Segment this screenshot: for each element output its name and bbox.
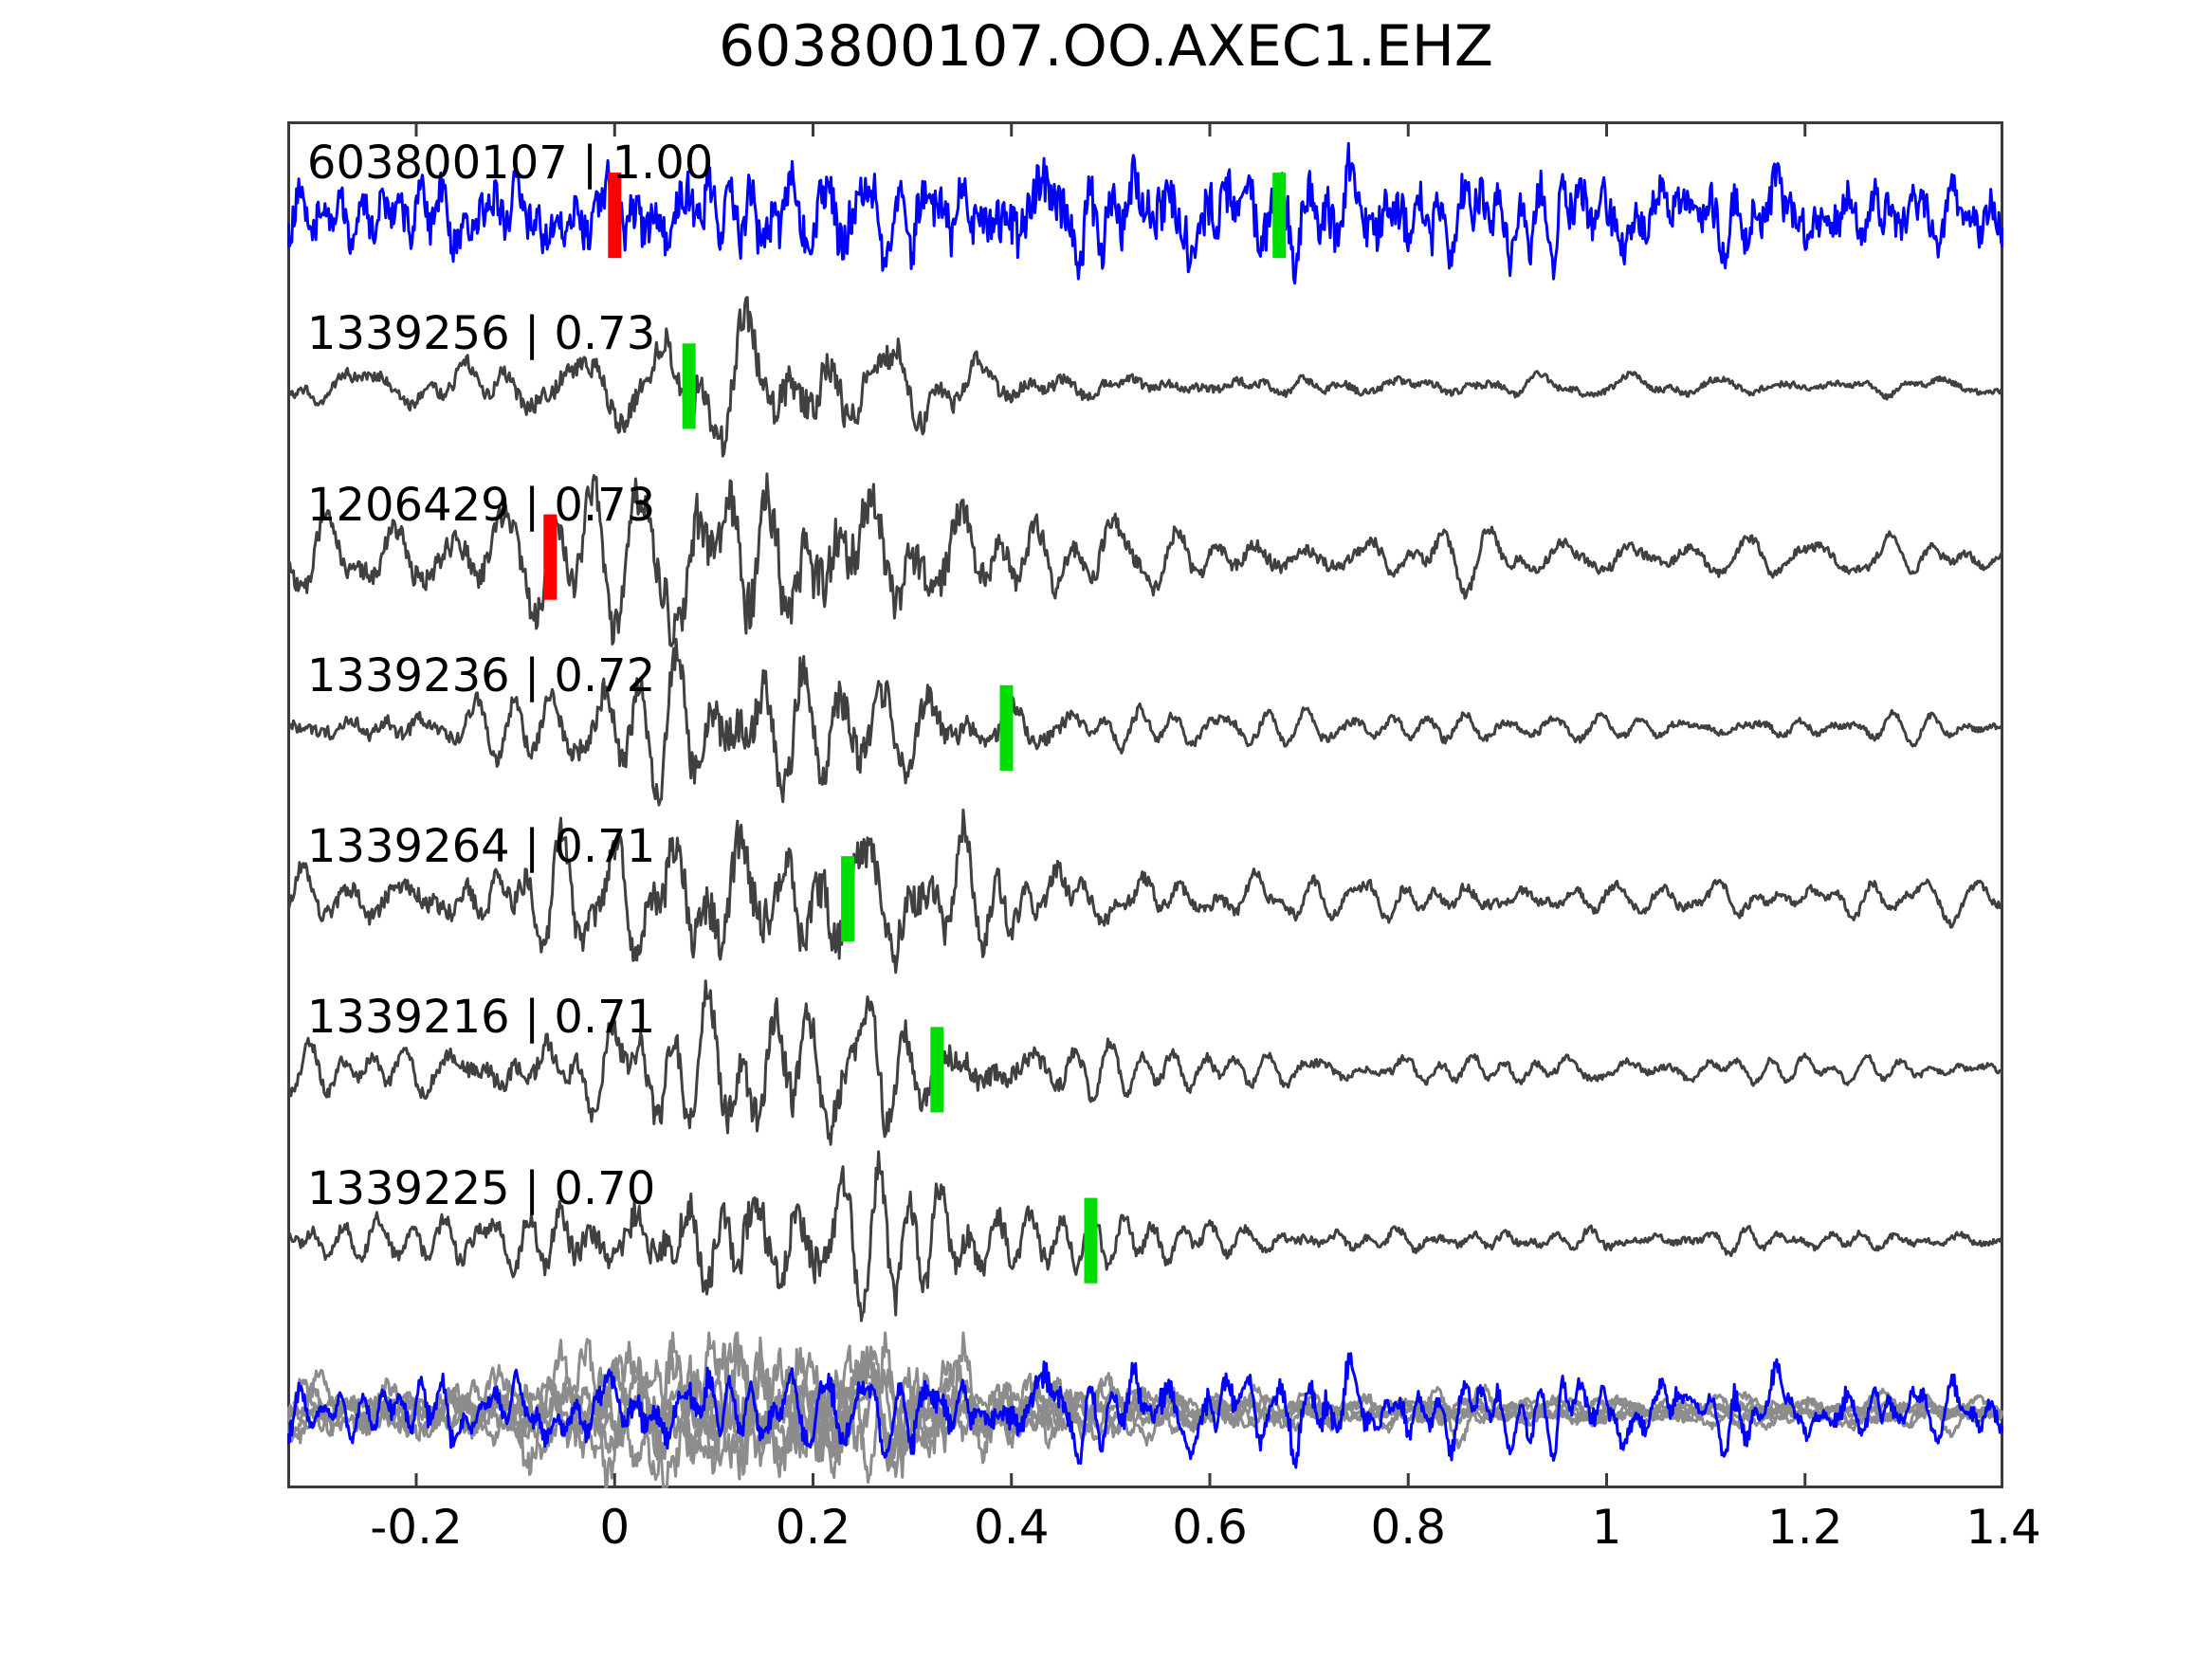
page-title: 603800107.OO.AXEC1.EHZ: [0, 13, 2212, 80]
s-pick-marker[interactable]: [1272, 173, 1286, 258]
trace-label-1206429: 1206429 | 0.73: [307, 479, 655, 532]
xtick-label: 0.8: [1370, 1500, 1446, 1555]
s-pick-marker[interactable]: [930, 1027, 943, 1112]
s-pick-marker[interactable]: [1085, 1198, 1098, 1284]
s-pick-marker[interactable]: [1000, 685, 1014, 771]
trace-label-1339264: 1339264 | 0.71: [307, 820, 655, 873]
trace-label-1339216: 1339216 | 0.71: [307, 991, 655, 1044]
seismogram-figure: 603800107.OO.AXEC1.EHZ 603800107 | 1.001…: [0, 0, 2212, 1659]
trace-label-1339236: 1339236 | 0.72: [307, 649, 655, 702]
s-pick-marker[interactable]: [841, 856, 854, 941]
trace-label-603800107: 603800107 | 1.00: [307, 137, 713, 190]
xtick-label: 1: [1592, 1500, 1622, 1555]
x-axis-ticklabels: -0.200.20.40.60.811.21.4: [287, 1500, 2003, 1566]
s-pick-marker[interactable]: [683, 343, 696, 428]
xtick-label: 1.4: [1965, 1500, 2041, 1555]
xtick-label: 0.6: [1172, 1500, 1248, 1555]
xtick-label: 0.2: [776, 1500, 851, 1555]
trace-label-1339256: 1339256 | 0.73: [307, 307, 655, 360]
xtick-label: 0.4: [974, 1500, 1050, 1555]
xtick-label: 0: [599, 1500, 630, 1555]
xtick-label: -0.2: [370, 1500, 463, 1555]
trace-label-1339225: 1339225 | 0.70: [307, 1162, 655, 1215]
xtick-label: 1.2: [1767, 1500, 1843, 1555]
